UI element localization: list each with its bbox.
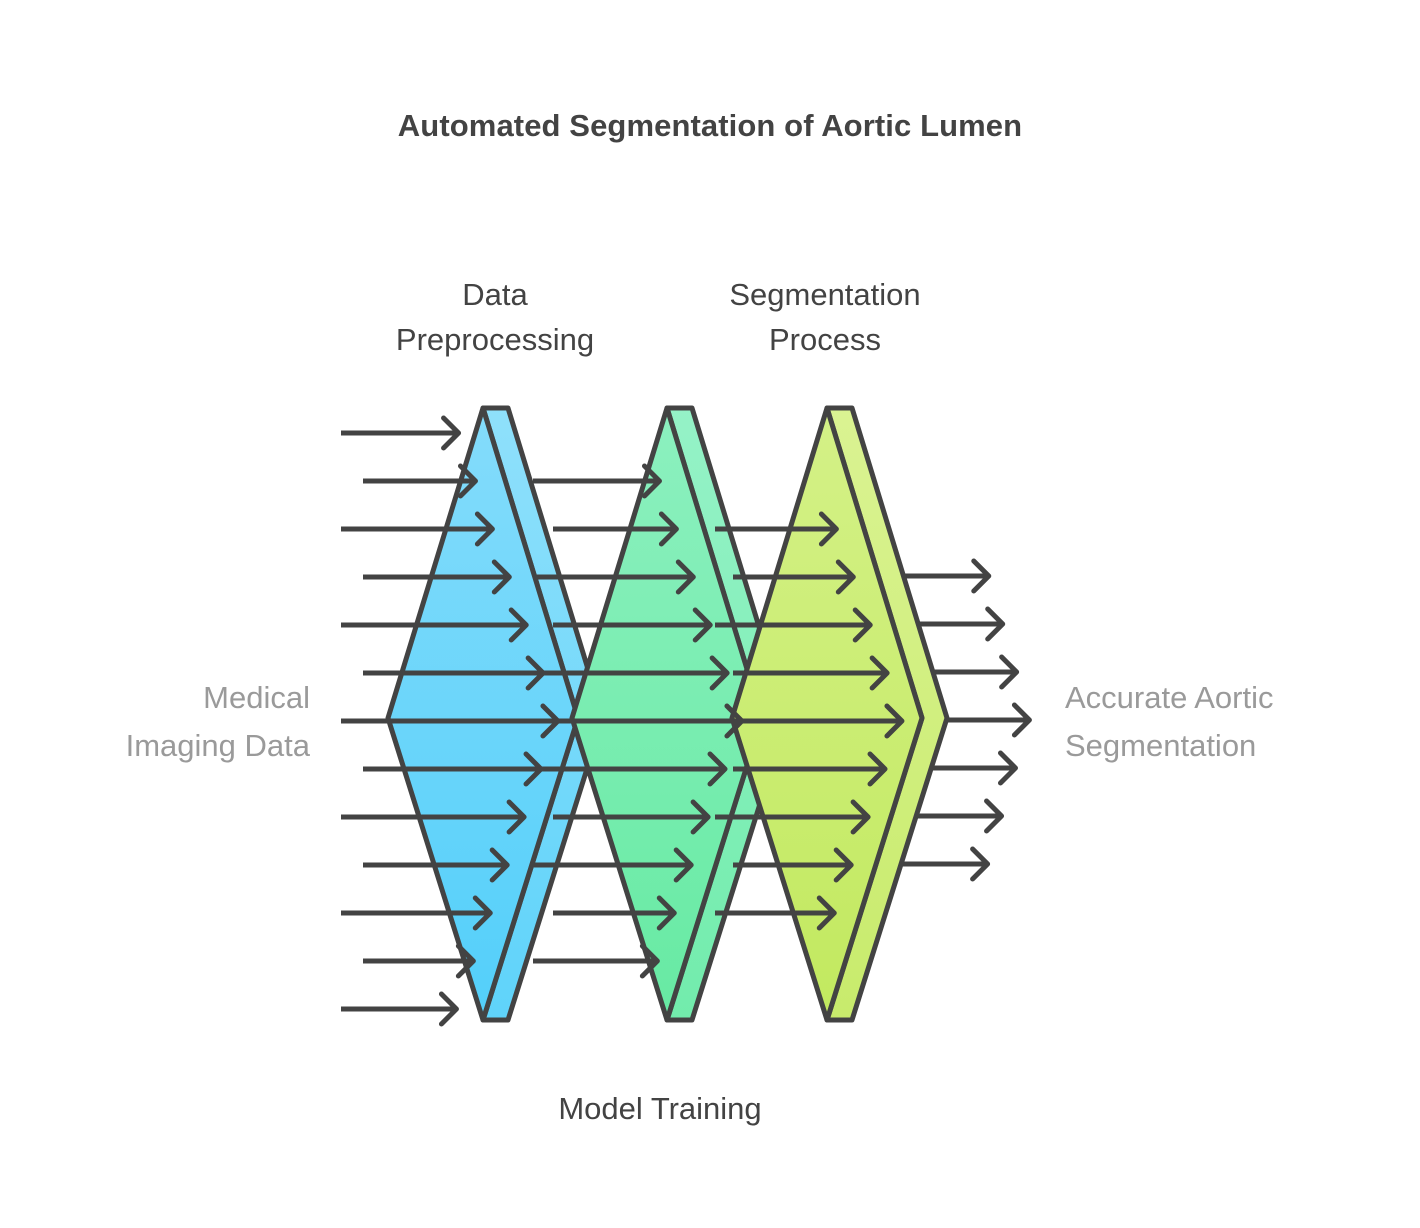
bottom-label: Model Training: [558, 1091, 761, 1126]
input-arrow-11: [363, 946, 473, 976]
diagram-canvas: Automated Segmentation of Aortic Lumen D…: [0, 0, 1420, 1228]
input-label-line2: Imaging Data: [126, 728, 311, 763]
stage1-to-stage2-arrow-10: [533, 946, 657, 976]
input-arrow-12: [341, 994, 456, 1024]
output-label-line1: Accurate Aortic: [1065, 680, 1273, 715]
stage-1-label-line1: Data: [462, 277, 528, 312]
stage-2-label-line2: Process: [769, 322, 881, 357]
stage-2-label-line1: Segmentation: [729, 277, 920, 312]
output-label-line2: Segmentation: [1065, 728, 1256, 763]
lens-shapes-layer: [388, 408, 947, 1020]
input-arrow-0: [341, 418, 459, 448]
lens-shape-3: [732, 408, 947, 1020]
input-label-line1: Medical: [203, 680, 310, 715]
page-title: Automated Segmentation of Aortic Lumen: [398, 108, 1022, 143]
diagram-root: Automated Segmentation of Aortic Lumen D…: [0, 0, 1420, 1228]
stage-1-label-line2: Preprocessing: [396, 322, 594, 357]
output-arrow-6: [895, 849, 988, 879]
